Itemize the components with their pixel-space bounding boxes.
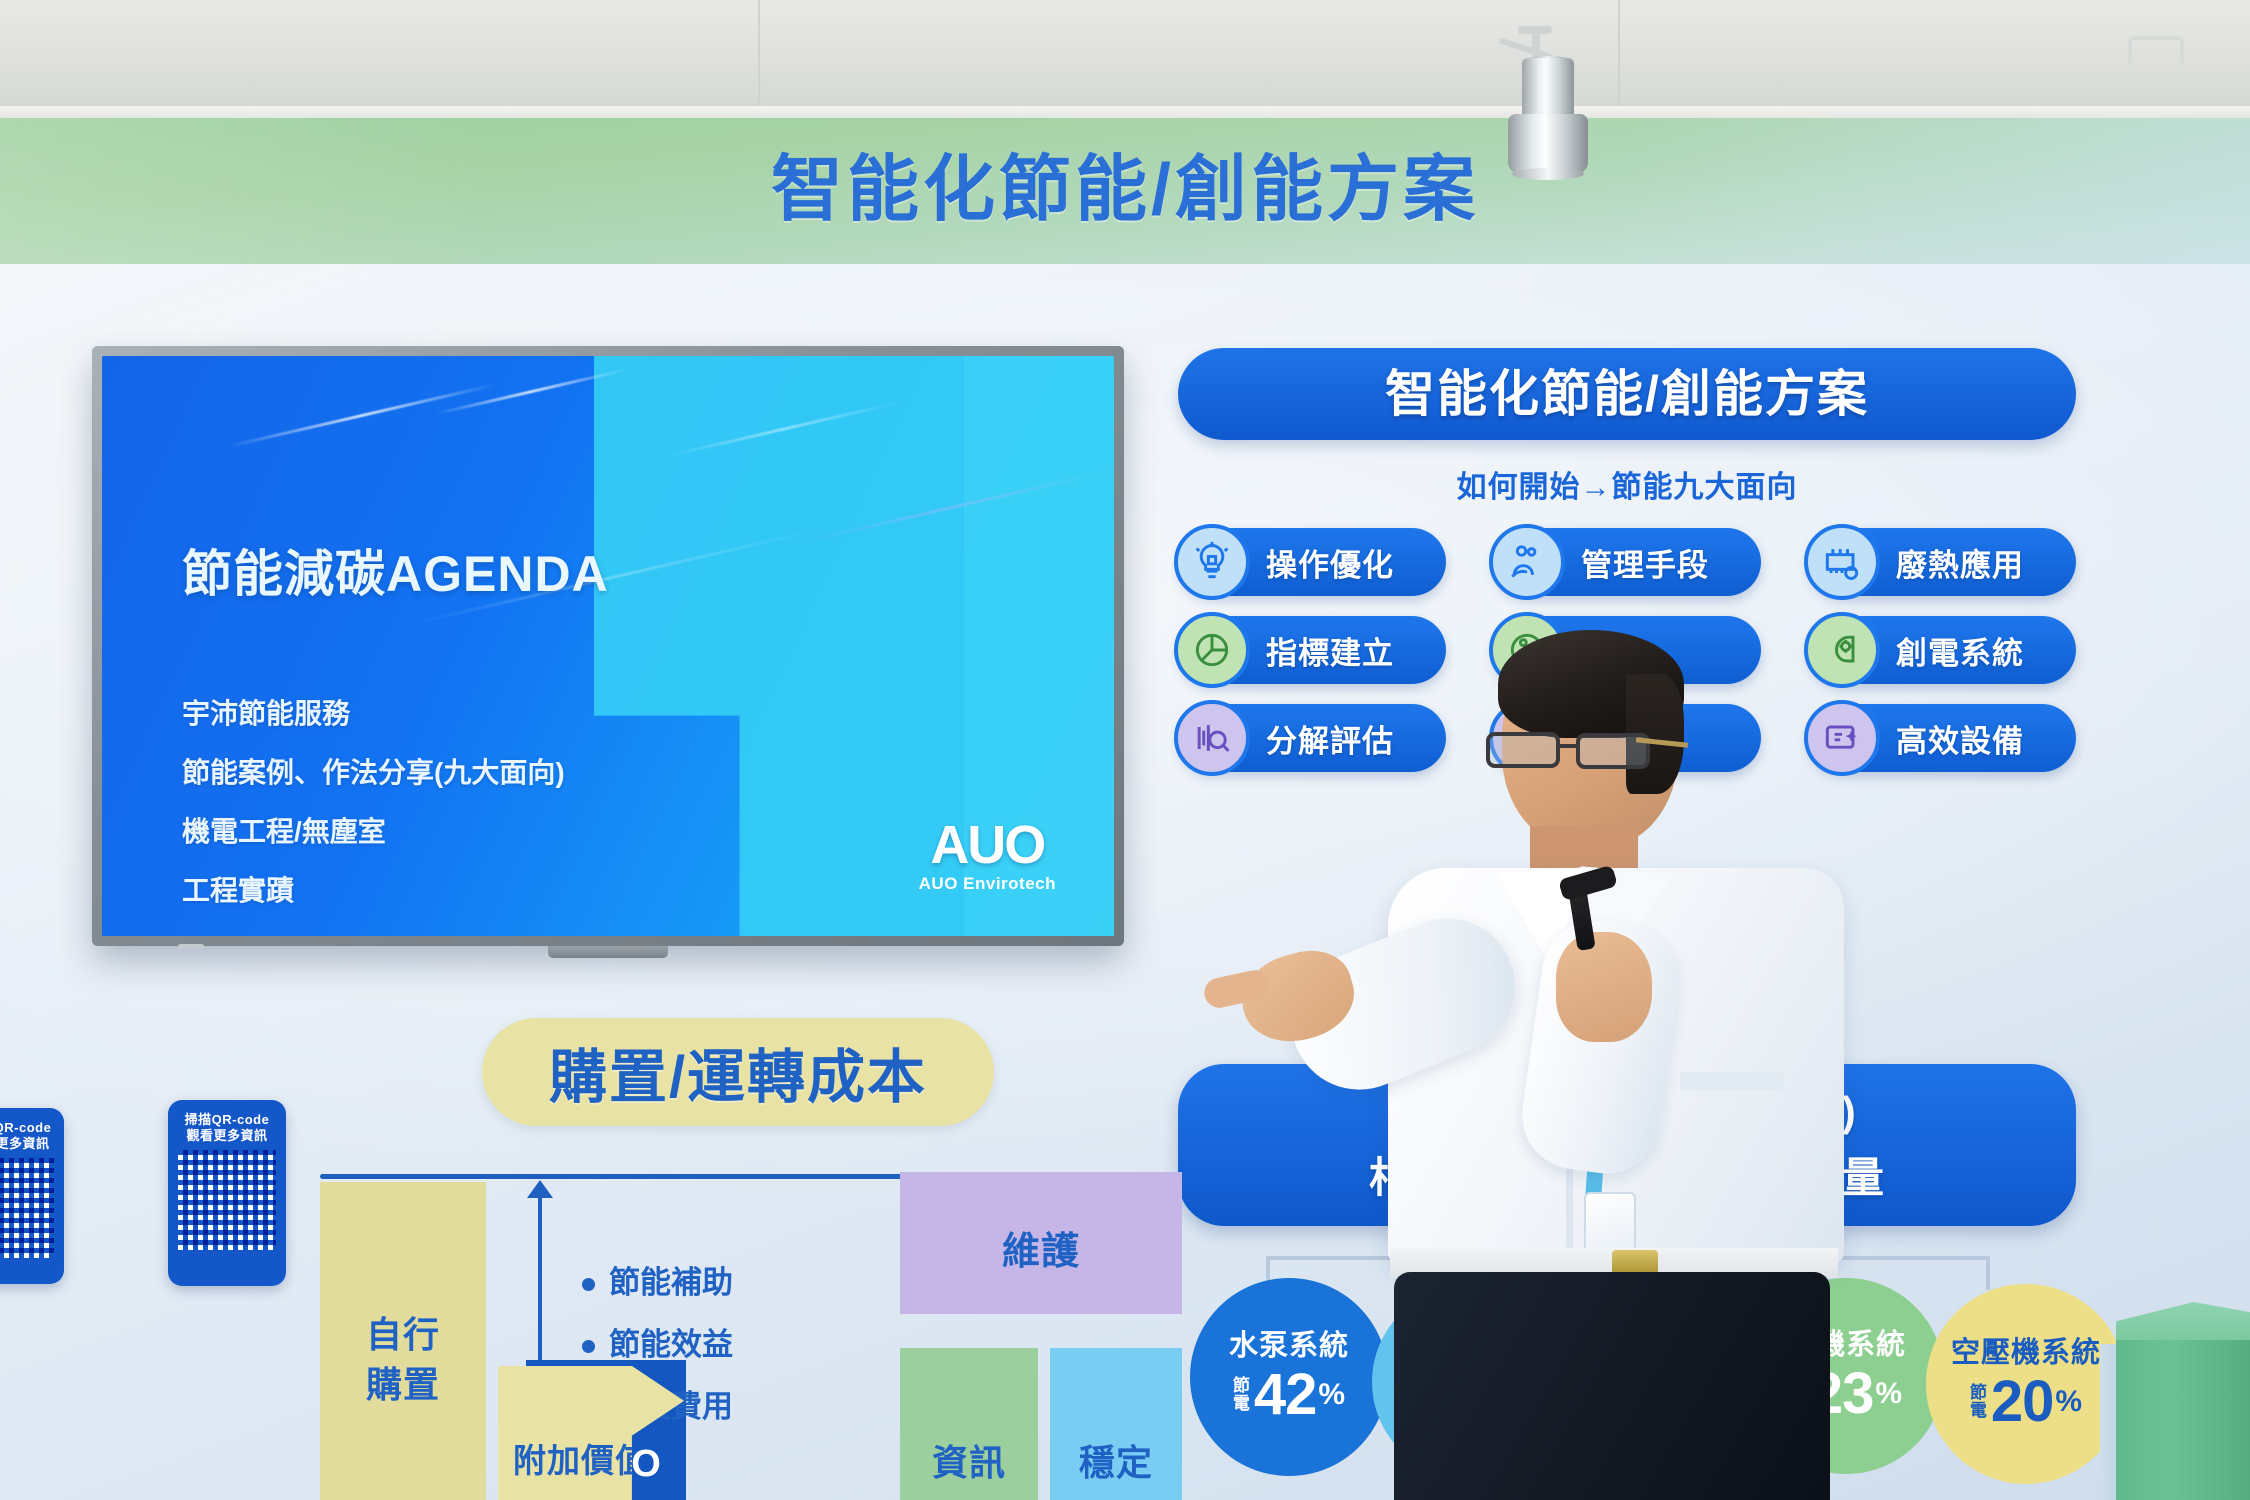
magnifier-data-icon	[1174, 700, 1250, 776]
spotlight-rim	[1512, 168, 1584, 180]
exhibition-booth-photo: 智能化節能/創能方案 節能減碳AGENDA 宇沛節能服務 節能案例、作法分享(九…	[0, 0, 2250, 1500]
slide-title: 節能減碳AGENDA	[182, 534, 609, 606]
chart-bar-label: 自行購置	[320, 1310, 486, 1410]
chart-bar: 穩定	[1050, 1348, 1182, 1500]
aspect-pill-label: 高效設備	[1896, 716, 2024, 761]
aspect-pill[interactable]: 操作優化	[1178, 528, 1446, 596]
chart-bar: 自行購置	[320, 1182, 486, 1500]
qr-caption-line-1: 掃描QR-code	[0, 1120, 54, 1136]
qr-caption-line-2: 觀看更多資訊	[178, 1128, 276, 1144]
aspect-pill[interactable]: 廢熱應用	[1808, 528, 2076, 596]
plinth-face	[2116, 1340, 2250, 1500]
result-circle-unit: %	[1318, 1378, 1345, 1412]
aspect-pill-label: 管理手段	[1581, 540, 1709, 585]
chart-bar-label: 穩定	[1050, 1434, 1182, 1486]
qr-code-icon	[178, 1150, 276, 1250]
result-circle: 空壓機系統 節電 20 %	[1926, 1284, 2126, 1484]
slide-bullet: 機電工程/無塵室	[182, 802, 565, 861]
result-circle-unit: %	[2055, 1385, 2082, 1419]
cost-section-title-label: 購置/運轉成本	[549, 1030, 927, 1114]
result-circle-tag: 節電	[1233, 1377, 1250, 1413]
tv-power-led-icon	[178, 944, 204, 949]
pill-row: 操作優化 管理手段 廢熱應用	[1178, 528, 2076, 596]
spotlight-icon	[1508, 114, 1588, 174]
qr-card-clipped[interactable]: 掃描QR-code 觀看更多資訊	[0, 1108, 64, 1284]
people-care-icon	[1489, 524, 1565, 600]
result-circle: 水泵系統 節電 42 %	[1190, 1278, 1388, 1476]
savings-bullet-item: 節能補助	[582, 1252, 733, 1314]
chart-bar: 維護	[900, 1172, 1182, 1314]
aspect-pill[interactable]: 管理手段	[1493, 528, 1761, 596]
auo-logo-mark: AUO	[919, 819, 1056, 871]
spotlight-body	[1522, 58, 1574, 120]
result-circle-tag: 節電	[1970, 1384, 1987, 1420]
eyeglasses-icon	[1486, 732, 1664, 772]
poster-header: 智能化節能/創能方案	[1178, 348, 2076, 440]
result-circle-value: 42	[1254, 1366, 1317, 1424]
factory-heat-icon	[1804, 524, 1880, 600]
chart-bar-label: 資訊	[900, 1434, 1038, 1486]
chart-bar-label: 維護	[900, 1220, 1182, 1275]
cost-section-title: 購置/運轉成本	[482, 1018, 994, 1126]
qr-caption-line-2: 觀看更多資訊	[0, 1136, 54, 1152]
tv-stand	[548, 946, 668, 958]
cost-comparison-chart: 自行購置 ESCO 資訊 穩定 維護 節能補助 節能效益 維護費用	[320, 1174, 1160, 1500]
banner-title: 智能化節能/創能方案	[0, 130, 2250, 235]
slide-bullet: 宇沛節能服務	[182, 684, 565, 743]
aspect-pill-label: 創電系統	[1896, 628, 2024, 673]
result-circle-name: 空壓機系統	[1951, 1337, 2101, 1369]
qr-code-icon	[0, 1158, 54, 1258]
aspect-pill-label: 廢熱應用	[1896, 540, 2024, 585]
presenter-trousers	[1394, 1272, 1830, 1500]
presentation-display[interactable]: 節能減碳AGENDA 宇沛節能服務 節能案例、作法分享(九大面向) 機電工程/無…	[92, 346, 1124, 946]
chart-bar: 資訊	[900, 1348, 1038, 1500]
qr-caption-line-1: 掃描QR-code	[178, 1112, 276, 1128]
pie-chart-icon	[1174, 612, 1250, 688]
bullet-dot-icon	[582, 1278, 595, 1291]
lightbulb-icon	[1174, 524, 1250, 600]
slide-bullet-list: 宇沛節能服務 節能案例、作法分享(九大面向) 機電工程/無塵室 工程實蹟	[182, 684, 565, 920]
aspect-pill-label: 分解評估	[1266, 716, 1394, 761]
ceiling-panel-seams	[0, 0, 2250, 120]
aspect-pill-label: 操作優化	[1266, 540, 1394, 585]
ceiling-hook-icon	[2128, 36, 2184, 66]
bullet-dot-icon	[582, 1340, 595, 1353]
presenter-shirt-pocket	[1680, 1072, 1784, 1090]
slide-bullet: 節能案例、作法分享(九大面向)	[182, 743, 565, 802]
aspect-pill-label: 指標建立	[1266, 628, 1394, 673]
auo-logo: AUO AUO Envirotech	[919, 819, 1056, 894]
poster-subtitle: 如何開始→節能九大面向	[1178, 462, 2076, 506]
presenter-right-hand	[1556, 932, 1652, 1042]
qr-card[interactable]: 掃描QR-code 觀看更多資訊	[168, 1100, 286, 1286]
poster-header-label: 智能化節能/創能方案	[1178, 348, 2076, 440]
result-circle-unit: %	[1875, 1377, 1902, 1411]
result-circle-name: 水泵系統	[1229, 1330, 1349, 1362]
presenter	[1380, 636, 1850, 1500]
result-circle-value: 20	[1991, 1373, 2054, 1431]
auo-logo-subtitle: AUO Envirotech	[919, 874, 1056, 894]
tv-screen[interactable]: 節能減碳AGENDA 宇沛節能服務 節能案例、作法分享(九大面向) 機電工程/無…	[102, 356, 1114, 936]
slide-bullet: 工程實蹟	[182, 861, 565, 920]
